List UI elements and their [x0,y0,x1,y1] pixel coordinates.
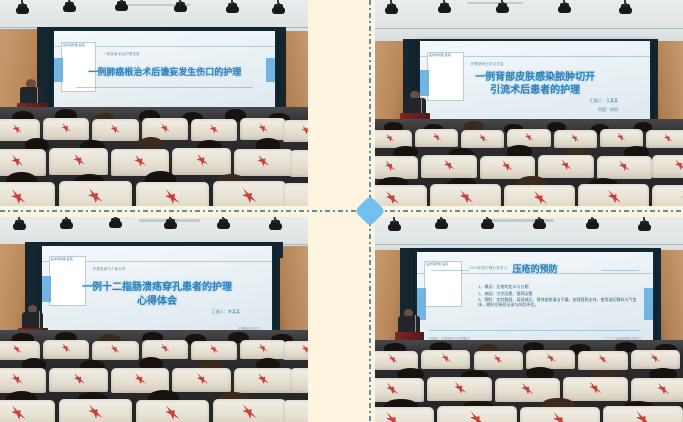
auditorium-scene: 医学院附属 医院 护理病例分享交流会 一例背部皮肤感染脓肿切开 引流术后患者的护… [375,0,683,206]
slide: 医学院附属 医院 2023年度护理业务学习 压疮的预防 1、概念：压疮的定义与分… [417,252,653,346]
stage-light-icon [15,220,24,228]
slide-side-tab [644,288,653,320]
slide-title-line2: 引流术后患者的护理 [434,81,636,96]
chair [290,150,308,178]
chair [59,399,133,422]
stage-light-icon [621,4,630,12]
stage-light-icon [437,219,446,227]
chair [504,185,575,206]
chair [563,377,628,402]
slide-subtitle-line2: 科室：外科 [598,107,618,113]
photo-collage: 医学院附属 医院 一例患者术后护理查房 一例肺癌根治术后谵妄发生伤口的护理 汇报… [0,0,683,422]
chair [283,400,308,422]
slide-bullet-item: 2、病因：力学因素、营养因素 [478,291,639,298]
chair [191,341,237,360]
slide-title: 一例肺癌根治术后谵妄发生伤口的护理 [68,65,262,78]
auditorium-scene: 医学院附属 医院 护理查房与个案分享 一例十二指肠溃疡穿孔患者的护理 心得体会 … [0,217,308,422]
chair [92,341,138,360]
chair [0,341,40,360]
slide-breadcrumb: 一例患者术后护理查房 [103,51,140,56]
stage-light-icon [387,4,396,12]
stage-light-icon [62,219,71,227]
chair [520,407,600,422]
chair [652,185,683,206]
slide-side-tab [417,288,426,320]
chair [631,350,680,369]
projection-screen-frame: 医学院附属 医院 2023年度护理业务学习 压疮的预防 1、概念：压疮的定义与分… [415,250,655,348]
chair [234,149,293,177]
chair [597,156,652,179]
chair [234,368,293,393]
slide-bullet-list: 1、概念：压疮的定义与分期 2、病因：力学因素、营养因素 3、预防：定时翻身、局… [438,284,639,308]
slide-side-tab [420,70,429,97]
stage-light-icon [274,4,283,12]
slide-bullet-item: 1、概念：压疮的定义与分期 [478,284,639,291]
horizontal-dashed-divider [0,210,683,212]
stage-light-icon [117,1,126,9]
chair [59,181,133,206]
photo-panel-top-right[interactable]: 医学院附属 医院 护理病例分享交流会 一例背部皮肤感染脓肿切开 引流术后患者的护… [375,0,683,206]
chair [427,377,492,402]
stage-light-icon [483,219,492,227]
stage-light-icon [390,221,399,229]
slide-side-tab [42,276,51,301]
chair [142,340,188,359]
chair [652,155,683,178]
chair [172,148,231,176]
chair [191,119,237,141]
chair [578,184,649,206]
chair [421,350,470,369]
chair [43,118,89,140]
slide-breadcrumb: 护理病例分享交流会 [471,61,504,66]
chair [538,155,593,178]
chair [283,120,308,142]
projection-screen-frame: 医学院附属 医院 护理病例分享交流会 一例背部皮肤感染脓肿切开 引流术后患者的护… [418,39,652,132]
projection-screen-frame: 医学院附属 医院 护理查房与个案分享 一例十二指肠溃疡穿孔患者的护理 心得体会 … [40,244,274,338]
stage-light-icon [588,219,597,227]
auditorium-scene: 医学院附属 医院 2023年度护理业务学习 压疮的预防 1、概念：压疮的定义与分… [375,217,683,422]
stage-light-icon [560,3,569,11]
slide-title-line2: 心得体会 [56,292,258,307]
chair [646,130,683,148]
chair [0,368,46,393]
stage-light-icon [535,219,544,227]
audience-seating [375,119,683,206]
chair [136,182,210,206]
chair [172,368,231,393]
photo-panel-top-left[interactable]: 医学院附属 医院 一例患者术后护理查房 一例肺癌根治术后谵妄发生伤口的护理 汇报… [0,0,308,206]
chair [43,340,89,359]
stage-light-icon [176,2,185,10]
chair [213,399,287,422]
slide: 医学院附属 医院 护理查房与个案分享 一例十二指肠溃疡穿孔患者的护理 心得体会 … [42,246,272,336]
stage-light-icon [498,3,507,11]
chair [578,351,627,370]
stage-light-icon [111,218,120,226]
audience-seating [0,107,308,206]
chair [421,155,476,178]
chair [631,378,683,403]
slide-subtitle: 汇报人：王某某 [590,98,618,104]
stage-light-icon [271,220,280,228]
chair [136,400,210,422]
chair [375,185,427,206]
stage-light-icon [228,3,237,11]
chair [507,129,550,147]
stage-light-icon [65,2,74,10]
chair [375,351,418,370]
stage-light-icon [219,219,228,227]
stage-light-icon [18,4,27,12]
auditorium-scene: 医学院附属 医院 一例患者术后护理查房 一例肺癌根治术后谵妄发生伤口的护理 汇报… [0,0,308,206]
audience-seating [375,340,683,422]
stage-light-icon [640,221,649,229]
chair [461,130,504,148]
chair [603,406,683,422]
chair [600,129,643,147]
chair [554,130,597,148]
stage-light-icon [440,3,449,11]
chair [375,130,412,148]
chair [0,400,55,422]
photo-panel-bottom-right[interactable]: 医学院附属 医院 2023年度护理业务学习 压疮的预防 1、概念：压疮的定义与分… [375,217,683,422]
chair [415,129,458,147]
wall-right [658,250,683,353]
slide-bullet-item: 3、预防：定时翻身、局部减压、保持皮肤清洁干燥，加强营养支持，使用减压敷料与气垫… [478,297,639,307]
chair [437,406,517,422]
chair [0,182,55,206]
slide-breadcrumb: 护理查房与个案分享 [93,266,126,271]
chair [283,341,308,360]
chair [92,119,138,141]
chair [283,183,308,206]
chair [49,148,108,176]
chair [526,350,575,369]
slide: 医学院附属 医院 护理病例分享交流会 一例背部皮肤感染脓肿切开 引流术后患者的护… [420,41,650,130]
slide-side-tab [266,58,275,82]
audience-seating [0,330,308,422]
stage-light-icon [166,219,175,227]
slide-side-tab [54,58,63,82]
chair [375,407,434,422]
chair [474,351,523,370]
chair [240,118,286,140]
chair [375,156,418,179]
chair [213,181,287,206]
slide-subtitle: 汇报人：李某某 [212,309,240,315]
chair [49,368,108,393]
slide-title: 压疮的预防 [417,262,653,275]
chair [240,340,286,359]
photo-panel-bottom-left[interactable]: 医学院附属 医院 护理查房与个案分享 一例十二指肠溃疡穿孔患者的护理 心得体会 … [0,217,308,422]
chair [290,368,308,393]
chair [430,184,501,206]
